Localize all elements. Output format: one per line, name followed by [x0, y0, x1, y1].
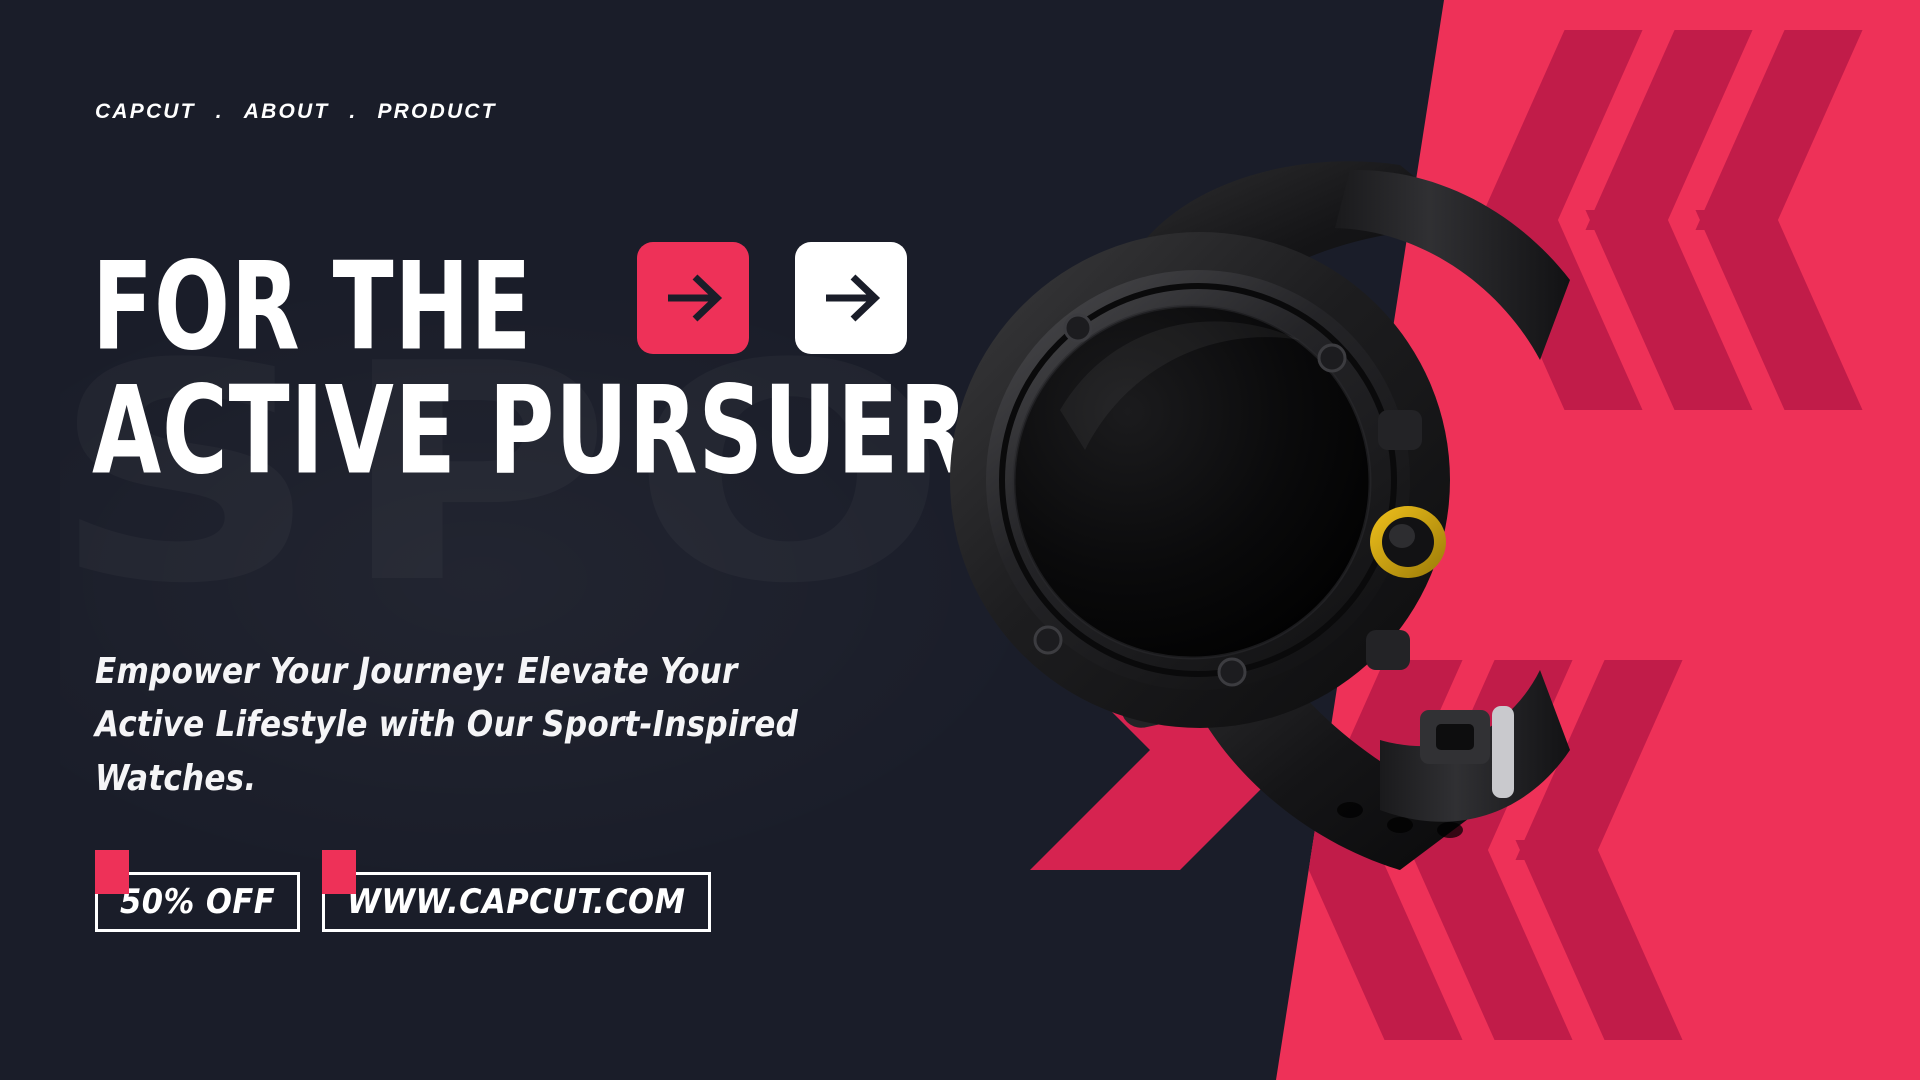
- website-link[interactable]: WWW.CAPCUT.COM: [322, 872, 710, 932]
- discount-badge-wrap: 50% OFF: [95, 872, 300, 932]
- hero-subcopy: Empower Your Journey: Elevate Your Activ…: [95, 645, 805, 805]
- bezel-screw: [1219, 659, 1245, 685]
- smartwatch-illustration: [880, 110, 1600, 910]
- headline-line-2: ACTIVE PURSUER: [92, 376, 966, 487]
- strap-hole: [1337, 802, 1363, 818]
- cta-row: 50% OFF WWW.CAPCUT.COM: [95, 872, 711, 932]
- corner-square-accent: [95, 850, 129, 894]
- headline-line-1: FOR THE: [92, 252, 532, 363]
- nav-item-capcut[interactable]: CAPCUT: [95, 100, 196, 124]
- watch-dial: [1014, 306, 1370, 658]
- banner-stage: SPORT CAPCUT . ABOUT . PRODUCT FOR THE: [0, 0, 1920, 1080]
- bezel-screw: [1065, 315, 1091, 341]
- arrow-right-icon: [820, 267, 882, 329]
- website-badge-wrap: WWW.CAPCUT.COM: [322, 872, 710, 932]
- arrow-button-pink[interactable]: [637, 242, 749, 354]
- nav-separator: .: [349, 100, 357, 124]
- bezel-screw: [1035, 627, 1061, 653]
- buckle-pin: [1492, 706, 1514, 798]
- product-smartwatch: [880, 110, 1600, 910]
- strap-hole: [1437, 822, 1463, 838]
- nav-separator: .: [216, 100, 224, 124]
- nav-item-product[interactable]: PRODUCT: [377, 100, 496, 124]
- nav-item-about[interactable]: ABOUT: [244, 100, 330, 124]
- arrow-right-icon: [662, 267, 724, 329]
- watch-side-button: [1366, 630, 1410, 670]
- main-navigation: CAPCUT . ABOUT . PRODUCT: [95, 100, 497, 124]
- strap-hole: [1387, 817, 1413, 833]
- watch-side-button: [1378, 410, 1422, 450]
- corner-square-accent: [322, 850, 356, 894]
- bezel-screw: [1319, 345, 1345, 371]
- arrow-button-group: [637, 242, 907, 354]
- watch-crown-button[interactable]: [1370, 506, 1446, 578]
